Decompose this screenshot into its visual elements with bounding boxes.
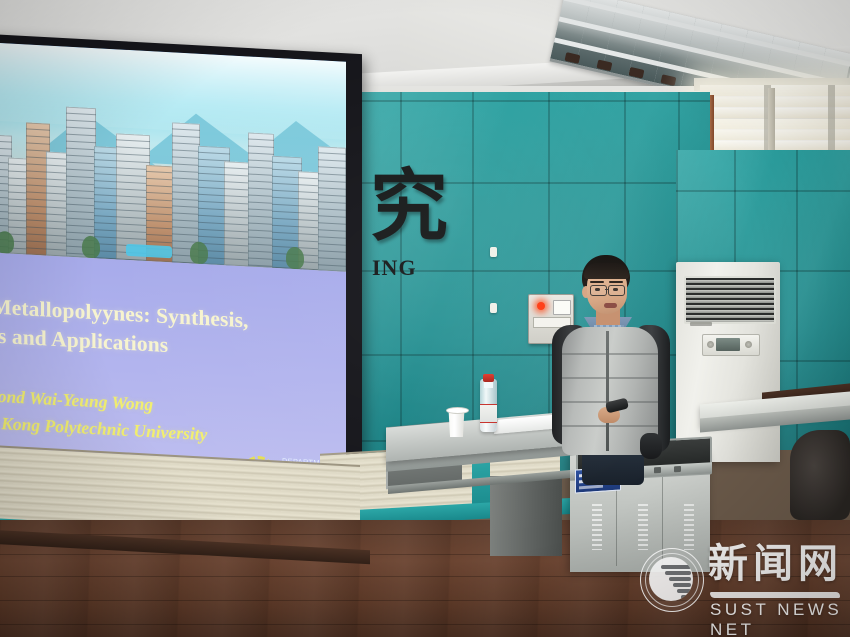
slide-building-floorline [8,184,28,186]
slide-building-floorline [8,219,28,221]
ac-knob-right-icon[interactable] [745,341,752,348]
slide-building-floorline [46,249,68,251]
slide-building-floorline [248,138,274,140]
projection-screen[interactable]: ional Metallopolyynes: Synthesis, nction… [0,42,346,497]
slide-building-floorline [8,177,28,179]
slide-building-floorline [0,147,12,149]
slide-building-floorline [116,230,150,233]
slide-building-floorline [116,209,150,212]
slide-building-floorline [66,232,96,235]
slide-building [318,146,346,272]
presentation-slide: ional Metallopolyynes: Synthesis, nction… [0,42,346,497]
presenter [540,255,670,485]
slide-building [46,152,68,257]
slide-building-floorline [46,228,68,230]
slide-building-floorline [318,257,346,260]
floor-plank-joint [0,554,850,555]
cabinet-vent-left-icon [592,504,602,550]
slide-building-floorline [66,225,96,228]
chair[interactable] [790,430,850,520]
slide-building-floorline [66,204,96,207]
slide-building-floorline [66,176,96,179]
slide-building-floorline [66,134,96,137]
slide-building-floorline [66,218,96,221]
ac-grille-slat [686,305,774,308]
slide-building-floorline [46,193,68,195]
slide-building-floorline [116,153,150,156]
presenter-glove [640,433,662,459]
slide-building-floorline [66,162,96,165]
floor-standing-ac-unit[interactable] [676,262,780,462]
wall-english-lettering: ING [372,255,417,281]
presenter-mouth [604,303,617,308]
ac-grille-slat [686,290,774,293]
slide-building-floorline [318,236,346,239]
ac-control-panel[interactable] [702,334,760,356]
ac-display-screen [716,338,740,351]
slide-cityscape-photo [0,42,346,271]
slide-building-floorline [172,205,200,208]
slide-building-floorline [172,212,200,215]
presenter-hair-fringe [584,263,629,279]
lecture-hall-photo: 究 ING ional Metallopolyynes: Synthesis, … [0,0,850,637]
slide-building-floorline [116,146,150,149]
slide-building-floorline [172,142,200,145]
slide-building-floorline [248,208,274,210]
slide-tree [82,235,100,258]
slide-building-floorline [248,236,274,238]
slide-building-floorline [46,165,68,167]
slide-building-floorline [46,179,68,181]
ac-grille-slat [686,310,774,313]
slide-building-floorline [318,208,346,211]
slide-building-floorline [116,216,150,219]
slide-building-floorline [116,195,150,198]
slide-building-floorline [248,159,274,161]
slide-building-floorline [116,188,150,191]
slide-building-floorline [46,242,68,244]
slide-tree [190,241,208,264]
slide-building-floorline [248,180,274,182]
slide-building-floorline [248,145,274,147]
slide-building-floorline [116,223,150,226]
slide-building-floorline [318,201,346,204]
wall-clip-upper [490,247,497,257]
slide-building-floorline [66,148,96,151]
floor-plank-joint [0,534,850,535]
slide-building-floorline [8,226,28,228]
slide-building-floorline [46,221,68,223]
ac-grille-slat [686,315,774,318]
slide-building-floorline [0,154,12,156]
slide-building-floorline [318,250,346,253]
slide-building-floorline [248,229,274,231]
slide-building-floorline [248,194,274,196]
presenter-glasses-right-lens-icon [608,285,625,296]
slide-building-floorline [248,152,274,154]
ac-knob-left-icon[interactable] [707,341,714,348]
slide-building-floorline [0,140,12,142]
water-bottle-neck [484,381,493,388]
slide-building-floorline [46,200,68,202]
slide-building-floorline [66,190,96,193]
slide-building-floorline [26,135,50,137]
ac-grille-slat [686,300,774,303]
slide-building-floorline [8,191,28,193]
slide-building [116,133,150,261]
slide-building [248,132,274,267]
slide-building-floorline [66,183,96,186]
slide-swimming-pool [126,244,172,258]
presenter-glasses-bridge [605,289,609,290]
wall-chinese-character: 究 [370,168,448,246]
slide-building-floorline [172,156,200,159]
slide-building-floorline [66,113,96,116]
slide-building-floorline [318,215,346,218]
wall-tile-joint-vertical [472,92,474,474]
slide-building-floorline [172,128,200,131]
slide-building-floorline [8,205,28,207]
water-bottle-label [480,404,497,423]
slide-building-floorline [8,163,28,165]
slide-building-floorline [172,198,200,201]
ac-brand-logo [690,322,712,326]
slide-title: ional Metallopolyynes: Synthesis, nction… [0,290,346,370]
slide-building-floorline [318,243,346,246]
slide-building-floorline [8,212,28,214]
slide-building-floorline [116,174,150,177]
slide-building-floorline [116,202,150,205]
slide-building-floorline [172,163,200,166]
slide-building-floorline [116,258,150,261]
slide-building-floorline [198,152,230,155]
slide-building-floorline [66,211,96,214]
floor-plank-joint [0,624,850,625]
slide-building-floorline [46,214,68,216]
slide-building-floorline [66,141,96,144]
slide-building-floorline [8,198,28,200]
slide-building-floorline [318,229,346,232]
slide-building-floorline [8,170,28,172]
slide-building-floorline [46,186,68,188]
slide-building-floorline [172,135,200,138]
slide-building-floorline [172,226,200,229]
ac-grille-slat [686,295,774,298]
slide-building-floorline [66,169,96,172]
wall-clip-lower [490,303,497,313]
slide-building-floorline [318,180,346,183]
slide-author-block: Raymond Wai-Yeung Wong Hong Kong Polytec… [0,381,346,457]
floor-plank-joint [0,576,850,577]
slide-building-floorline [318,166,346,169]
slide-building-floorline [66,197,96,200]
slide-building-floorline [46,158,68,160]
slide-building-floorline [116,139,150,142]
slide-building-floorline [248,257,274,259]
podium-pedestal [490,476,562,556]
slide-building-floorline [172,149,200,152]
slide-building-floorline [248,243,274,245]
cabinet-vent-right-icon [684,504,694,550]
slide-building-floorline [318,152,346,155]
slide-building-floorline [172,184,200,187]
slide-building-floorline [248,250,274,252]
slide-building-floorline [66,127,96,130]
presenter-vest-zipper [606,331,609,451]
slide-building-floorline [248,215,274,217]
slide-tree [286,246,304,269]
slide-building-floorline [318,187,346,190]
slide-building-floorline [116,160,150,163]
presenter-glasses-left-lens-icon [590,285,607,296]
slide-building-floorline [172,170,200,173]
slide-building-floorline [26,142,50,144]
paper-cup-rim [446,407,469,414]
ac-grille-slat [686,280,774,283]
slide-building-floorline [272,162,302,165]
ac-grille-slat [686,285,774,288]
slide-building-floorline [248,173,274,175]
slide-building-floorline [248,264,274,266]
slide-building-floorline [116,237,150,240]
slide-building-floorline [248,187,274,189]
wall-tile-joint-vertical [400,92,402,474]
slide-building-floorline [116,181,150,184]
slide-building-floorline [318,194,346,197]
slide-building-floorline [318,173,346,176]
slide-building-floorline [248,222,274,224]
slide-building-floorline [172,191,200,194]
slide-building-floorline [318,222,346,225]
slide-building-floorline [172,233,200,236]
cabinet-vent-mid-icon [638,504,648,550]
slide-building-floorline [172,219,200,222]
ac-air-grille-icon [684,276,776,324]
slide-building-floorline [46,172,68,174]
slide-building-floorline [66,155,96,158]
slide-building-floorline [318,264,346,267]
slide-building-floorline [248,166,274,168]
slide-building-floorline [66,120,96,123]
slide-building-floorline [26,128,50,130]
wall-tile-joint-horizontal-right [676,190,850,192]
slide-building-floorline [116,167,150,170]
slide-building-floorline [248,201,274,203]
floor-plank-joint [0,600,850,601]
slide-building-floorline [46,235,68,237]
slide-building-floorline [318,159,346,162]
slide-building-floorline [172,177,200,180]
wall-tile-joint-horizontal [338,100,710,102]
slide-building-floorline [46,207,68,209]
water-bottle-red-cap-icon [483,374,494,382]
